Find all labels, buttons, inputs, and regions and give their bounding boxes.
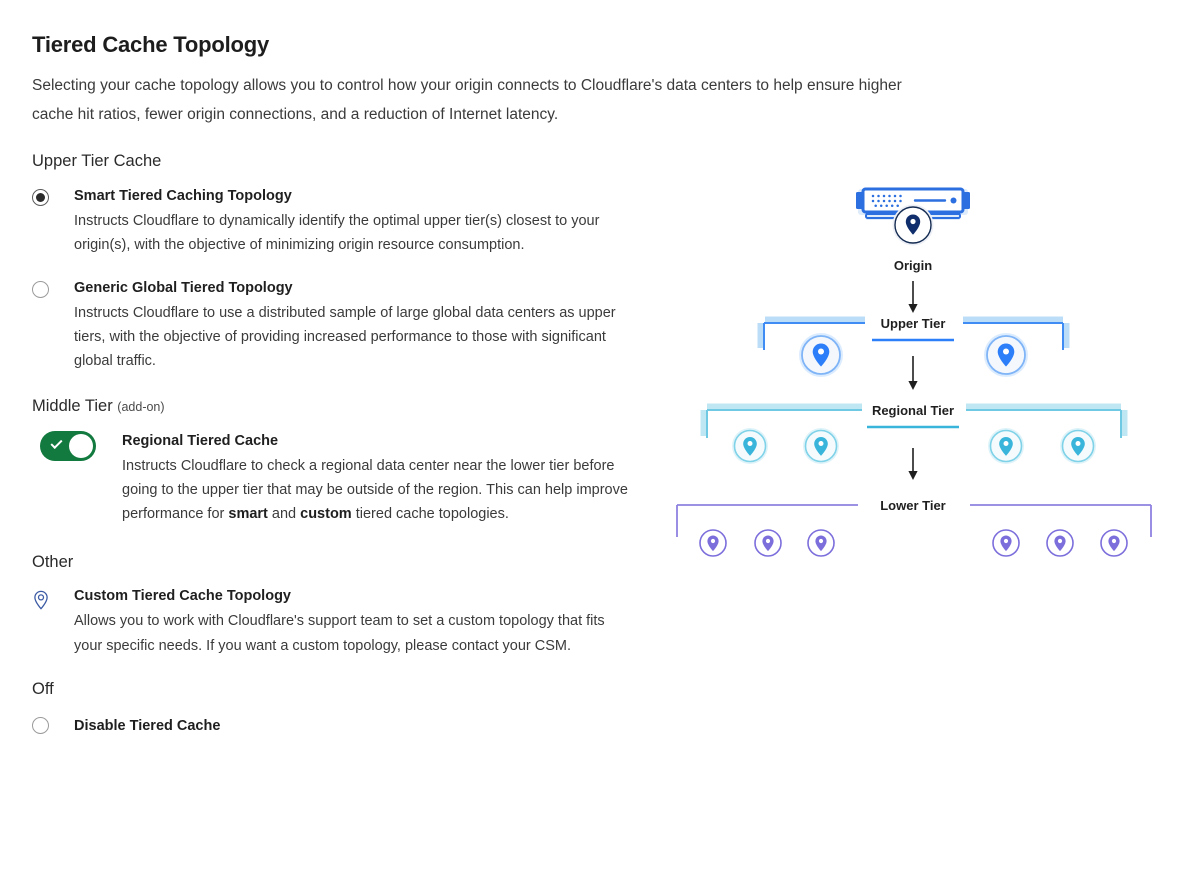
upper-tier-label: Upper Tier bbox=[881, 316, 946, 331]
option-smart-tiered-caching-topology[interactable]: Smart Tiered Caching Topology Instructs … bbox=[32, 186, 652, 257]
regional-tier-label: Regional Tier bbox=[872, 403, 954, 418]
toggle-knob bbox=[69, 434, 93, 458]
regional-tier-node bbox=[1060, 428, 1096, 464]
radio-smart-tiered-caching-topology[interactable] bbox=[32, 189, 49, 206]
tiered-cache-topology-page: Tiered Cache Topology Selecting your cac… bbox=[0, 0, 1188, 870]
tiered-cache-topology-diagram: Origin Upper Tier bbox=[660, 180, 1170, 580]
origin-pin-icon bbox=[894, 206, 933, 245]
radio-generic-global-tiered-topology[interactable] bbox=[32, 281, 49, 298]
option-text: Generic Global Tiered Topology Instructs… bbox=[74, 278, 652, 374]
page-intro: Selecting your cache topology allows you… bbox=[32, 72, 932, 130]
upper-tier-node bbox=[799, 333, 843, 377]
option-title: Generic Global Tiered Topology bbox=[74, 278, 652, 299]
option-description: Allows you to work with Cloudflare's sup… bbox=[74, 609, 634, 657]
section-heading-middle-tier: Middle Tier (add-on) bbox=[32, 397, 652, 417]
section-heading-addon: (add-on) bbox=[117, 400, 164, 414]
option-description: Instructs Cloudflare to use a distribute… bbox=[74, 301, 634, 374]
control-slot bbox=[32, 716, 74, 734]
option-title: Custom Tiered Cache Topology bbox=[74, 586, 652, 607]
regional-tier-node bbox=[732, 428, 768, 464]
lower-tier-node bbox=[808, 530, 834, 556]
regional-tier-node bbox=[803, 428, 839, 464]
arrow-origin-to-upper-tier bbox=[908, 281, 917, 313]
topology-svg: Origin Upper Tier bbox=[660, 180, 1170, 580]
control-slot bbox=[32, 186, 74, 206]
radio-disable-tiered-cache[interactable] bbox=[32, 717, 49, 734]
toggle-regional-tiered-cache[interactable] bbox=[40, 431, 96, 461]
upper-tier-node bbox=[984, 333, 1028, 377]
lower-tier-node bbox=[755, 530, 781, 556]
option-description: Instructs Cloudflare to dynamically iden… bbox=[74, 209, 634, 257]
option-text: Smart Tiered Caching Topology Instructs … bbox=[74, 186, 652, 257]
option-text: Regional Tiered Cache Instructs Cloudfla… bbox=[122, 431, 652, 527]
lower-tier-node bbox=[993, 530, 1019, 556]
settings-column: Tiered Cache Topology Selecting your cac… bbox=[32, 32, 652, 739]
lower-tier-node bbox=[1101, 530, 1127, 556]
arrow-upper-to-regional-tier bbox=[908, 356, 917, 390]
lower-tier-group: Lower Tier bbox=[677, 498, 1151, 556]
lower-tier-label: Lower Tier bbox=[880, 498, 946, 513]
section-heading-label: Middle Tier bbox=[32, 397, 113, 415]
page-title: Tiered Cache Topology bbox=[32, 32, 652, 58]
option-description: Instructs Cloudflare to check a regional… bbox=[122, 454, 652, 527]
option-custom-tiered-cache-topology[interactable]: Custom Tiered Cache Topology Allows you … bbox=[32, 586, 652, 657]
option-generic-global-tiered-topology[interactable]: Generic Global Tiered Topology Instructs… bbox=[32, 278, 652, 374]
section-heading-upper-tier: Upper Tier Cache bbox=[32, 152, 652, 172]
arrow-regional-to-lower-tier bbox=[908, 448, 917, 480]
option-disable-tiered-cache[interactable]: Disable Tiered Cache bbox=[32, 716, 652, 739]
control-slot bbox=[32, 431, 122, 461]
regional-tier-group: Regional Tier bbox=[704, 403, 1124, 464]
option-text: Custom Tiered Cache Topology Allows you … bbox=[74, 586, 652, 657]
option-title: Disable Tiered Cache bbox=[74, 716, 652, 737]
option-text: Disable Tiered Cache bbox=[74, 716, 652, 739]
option-regional-tiered-cache[interactable]: Regional Tiered Cache Instructs Cloudfla… bbox=[32, 431, 652, 527]
map-pin-icon[interactable] bbox=[32, 590, 50, 612]
lower-tier-node bbox=[1047, 530, 1073, 556]
section-heading-other: Other bbox=[32, 553, 652, 573]
section-heading-off: Off bbox=[32, 680, 652, 700]
lower-tier-node bbox=[700, 530, 726, 556]
control-slot bbox=[32, 278, 74, 298]
origin-label: Origin bbox=[894, 258, 932, 273]
regional-tier-node bbox=[988, 428, 1024, 464]
control-slot bbox=[32, 586, 74, 612]
option-title: Smart Tiered Caching Topology bbox=[74, 186, 652, 207]
check-icon bbox=[50, 437, 62, 449]
option-title: Regional Tiered Cache bbox=[122, 431, 652, 452]
